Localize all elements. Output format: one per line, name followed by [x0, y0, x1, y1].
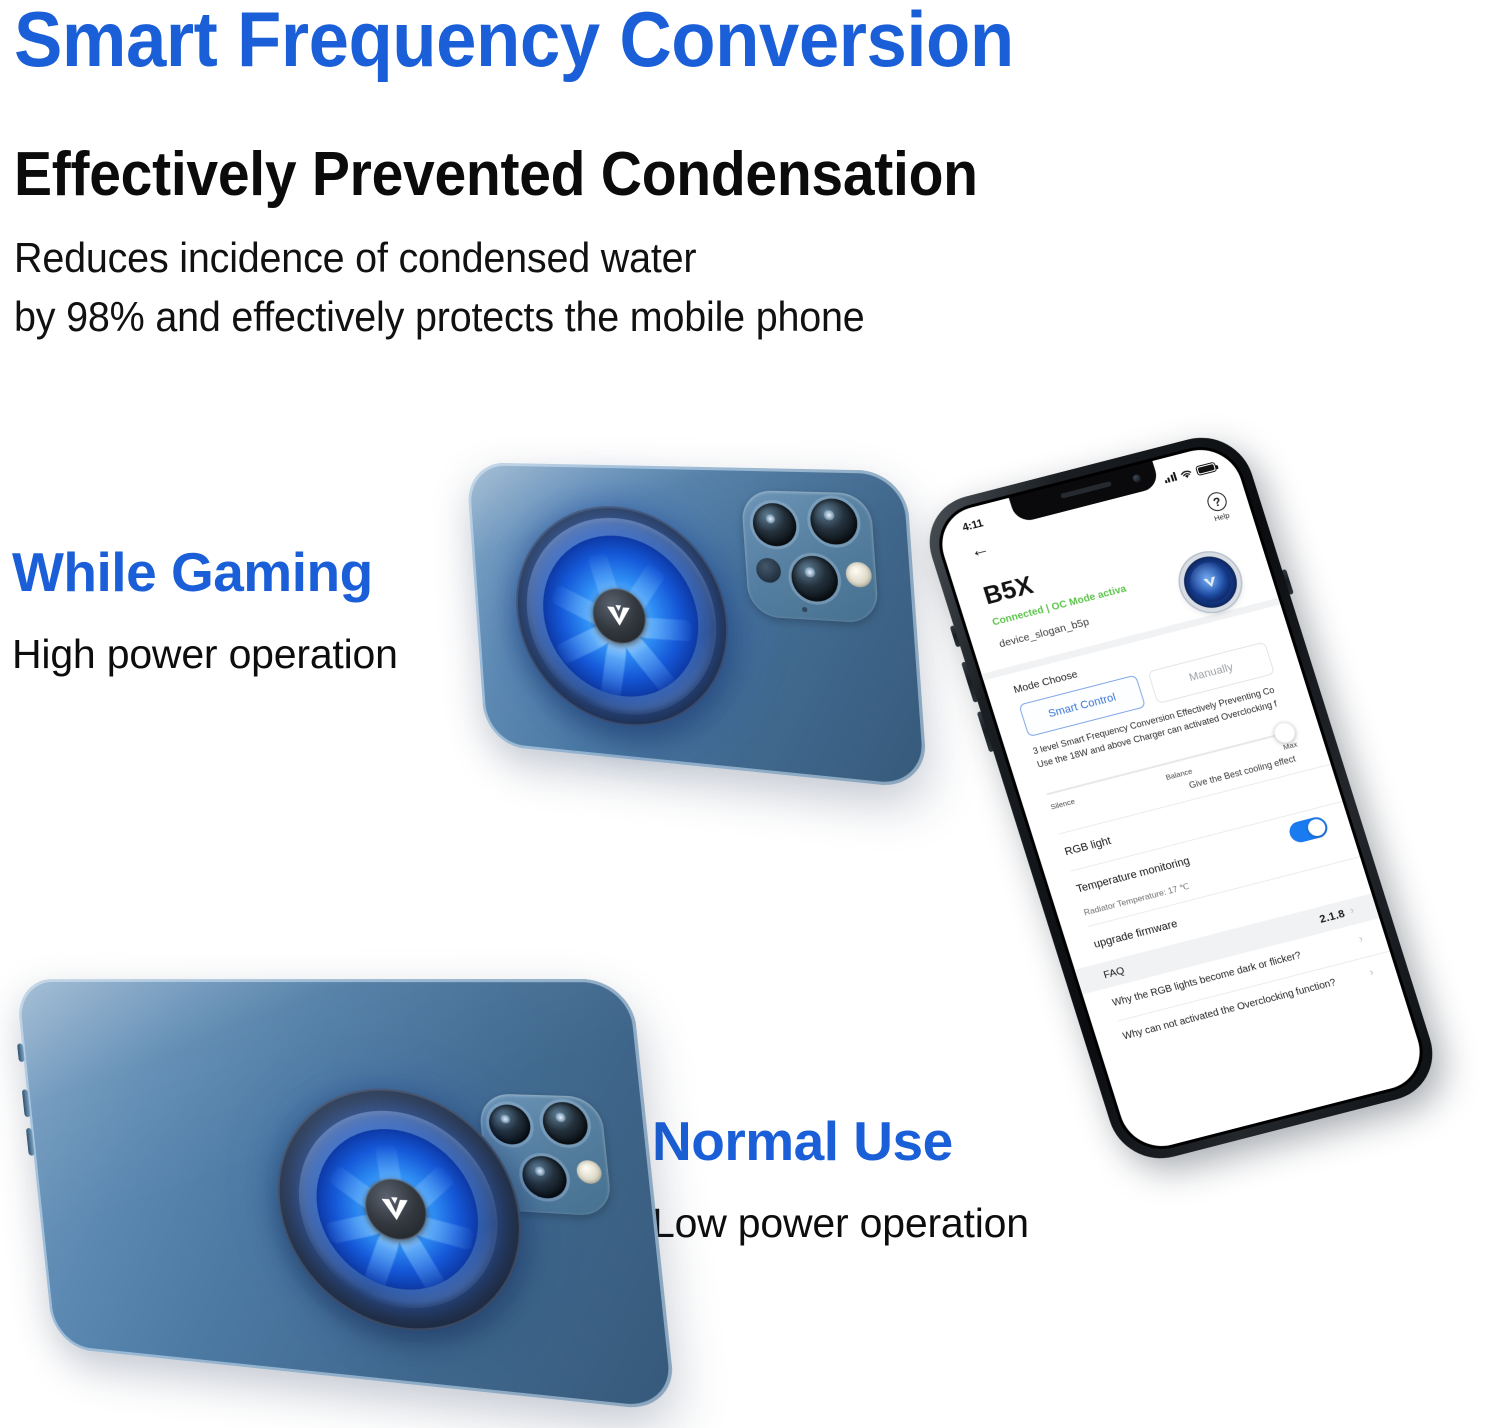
- slider-label-silence: Silence: [1049, 797, 1076, 812]
- product-image-normal-use: [4, 978, 654, 1418]
- section-caption-normal-use: Normal Use Low power operation: [652, 1114, 1029, 1244]
- faq-header-label: FAQ: [1102, 964, 1126, 981]
- temperature-monitoring-toggle[interactable]: [1287, 815, 1330, 844]
- phone-frame: 4:11 ←: [917, 427, 1445, 1169]
- camera-lens-icon: [809, 498, 859, 545]
- help-button[interactable]: ? Help: [1201, 479, 1232, 525]
- camera-lens-icon: [790, 555, 839, 603]
- back-arrow-icon[interactable]: ←: [968, 539, 992, 562]
- rgb-light-label: RGB light: [1063, 835, 1112, 858]
- phone-bezel: 4:11 ←: [928, 438, 1433, 1159]
- headline-body: Reduces incidence of condensed water by …: [14, 228, 1194, 347]
- camera-lens-icon: [487, 1104, 532, 1145]
- phone-with-cooler-bottom: [15, 979, 676, 1412]
- page-title: Smart Frequency Conversion: [14, 2, 1111, 78]
- help-question-icon: ?: [1205, 490, 1229, 513]
- camera-lens-icon: [541, 1101, 590, 1145]
- front-camera-icon: [1132, 474, 1142, 484]
- page-subtitle: Effectively Prevented Condensation: [14, 144, 1100, 206]
- camera-flash-icon: [845, 562, 873, 588]
- app-screenshot-phone: 4:11 ←: [1016, 452, 1486, 1282]
- flydigi-brand-icon: [379, 1195, 412, 1223]
- chevron-right-icon: ›: [1368, 968, 1375, 979]
- caption-subtitle: Low power operation: [652, 1203, 1029, 1244]
- product-image-while-gaming: [458, 466, 928, 796]
- app-screen: 4:11 ←: [932, 441, 1430, 1154]
- lidar-sensor-icon: [755, 558, 781, 584]
- headline-block: Smart Frequency Conversion Effectively P…: [14, 2, 1194, 347]
- caption-subtitle: High power operation: [12, 634, 398, 675]
- firmware-version: 2.1.8: [1318, 908, 1346, 926]
- camera-module: [741, 490, 880, 624]
- chevron-right-icon: ›: [1349, 906, 1356, 917]
- slider-label-max: Max: [1282, 740, 1298, 752]
- microphone-dot-icon: [802, 607, 808, 612]
- app-content: B5X Connected | OC Mode activa device_sl…: [954, 510, 1430, 1155]
- wifi-icon: [1178, 467, 1194, 480]
- section-caption-while-gaming: While Gaming High power operation: [12, 545, 398, 675]
- caption-title: While Gaming: [12, 545, 398, 600]
- earpiece-speaker-icon: [1060, 481, 1112, 499]
- battery-full-icon: [1195, 461, 1217, 476]
- product-marketing-page: { "headline": { "title": "Smart Frequenc…: [0, 0, 1500, 1428]
- phone-with-cooler-top: [466, 462, 928, 789]
- flydigi-brand-icon: [605, 603, 633, 628]
- status-bar-time: 4:11: [961, 517, 985, 534]
- caption-title: Normal Use: [652, 1114, 1029, 1169]
- cellular-signal-icon: [1163, 472, 1177, 484]
- headline-body-line-1: Reduces incidence of condensed water: [14, 228, 1123, 288]
- headline-body-line-2: by 98% and effectively protects the mobi…: [14, 287, 1123, 347]
- camera-flash-icon: [576, 1160, 603, 1185]
- camera-lens-icon: [520, 1155, 568, 1199]
- camera-lens-icon: [752, 503, 798, 548]
- chevron-right-icon: ›: [1358, 935, 1365, 946]
- status-bar-indicators: [1161, 455, 1217, 483]
